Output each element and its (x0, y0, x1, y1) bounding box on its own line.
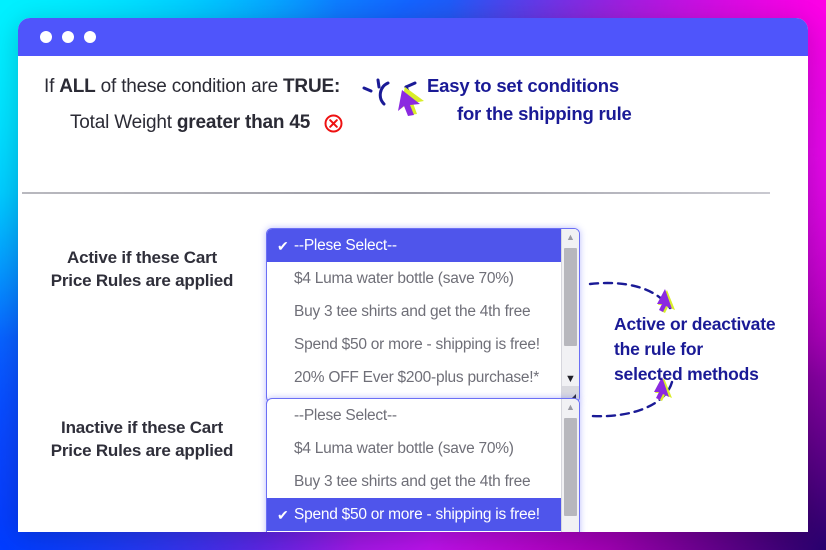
condition-block: If ALL of these condition are TRUE: Tota… (18, 56, 808, 134)
condition-rule-label: Total Weight (70, 112, 177, 133)
window-dot-minimize[interactable] (62, 31, 74, 43)
inactive-scroll-track[interactable] (562, 414, 579, 532)
active-rules-label: Active if these Cart Price Rules are app… (18, 228, 266, 293)
delete-circle-icon[interactable] (324, 114, 343, 133)
active-option-4[interactable]: ✔20% OFF Ever $200-plus purchase!* (267, 361, 561, 394)
active-options-list[interactable]: ✔--Plese Select--✔$4 Luma water bottle (… (267, 229, 561, 402)
inactive-rules-label-line2: Price Rules are applied (18, 439, 266, 462)
active-option-label: 20% OFF Ever $200-plus purchase!* (294, 369, 539, 387)
active-option-1[interactable]: ✔$4 Luma water bottle (save 70%) (267, 262, 561, 295)
annotation-top: Easy to set conditions for the shipping … (427, 72, 632, 128)
condition-true-word: TRUE: (283, 76, 340, 97)
active-option-3[interactable]: ✔Spend $50 or more - shipping is free! (267, 328, 561, 361)
annotation-top-line1: Easy to set conditions (427, 72, 632, 100)
annotation-right-line2: the rule for (614, 337, 775, 362)
window-dot-close[interactable] (40, 31, 52, 43)
inactive-listbox-scrollbar[interactable]: ▲ ▼ (561, 399, 579, 532)
condition-all-word: ALL (59, 76, 95, 97)
window-content: If ALL of these condition are TRUE: Tota… (18, 56, 808, 532)
condition-prefix: If (44, 76, 59, 97)
condition-rule-operator[interactable]: greater than 45 (177, 112, 310, 133)
active-option-2[interactable]: ✔Buy 3 tee shirts and get the 4th free (267, 295, 561, 328)
condition-middle: of these condition are (96, 76, 283, 97)
active-rules-label-line1: Active if these Cart (18, 246, 266, 269)
inactive-option-0[interactable]: ✔--Plese Select-- (267, 399, 561, 432)
annotation-top-line2: for the shipping rule (427, 100, 632, 128)
inactive-option-2[interactable]: ✔Buy 3 tee shirts and get the 4th free (267, 465, 561, 498)
inactive-option-label: $4 Luma water bottle (save 70%) (294, 440, 514, 458)
checkmark-icon: ✔ (277, 508, 294, 522)
inactive-option-1[interactable]: ✔$4 Luma water bottle (save 70%) (267, 432, 561, 465)
annotation-right-line1: Active or deactivate (614, 312, 775, 337)
condition-rule-text: Total Weight greater than 45 (70, 112, 310, 134)
active-scroll-track[interactable] (562, 244, 579, 371)
inactive-options-list[interactable]: ✔--Plese Select--✔$4 Luma water bottle (… (267, 399, 561, 532)
active-rules-label-line2: Price Rules are applied (18, 269, 266, 292)
annotation-right-line3: selected methods (614, 362, 775, 387)
browser-window: If ALL of these condition are TRUE: Tota… (18, 18, 808, 532)
active-option-0[interactable]: ✔--Plese Select-- (267, 229, 561, 262)
inactive-option-3[interactable]: ✔Spend $50 or more - shipping is free! (267, 498, 561, 531)
window-titlebar (18, 18, 808, 56)
active-scroll-thumb[interactable] (564, 248, 577, 346)
active-option-label: --Plese Select-- (294, 237, 397, 255)
active-option-label: Spend $50 or more - shipping is free! (294, 336, 540, 354)
inactive-cart-price-rules-listbox[interactable]: ✔--Plese Select--✔$4 Luma water bottle (… (266, 398, 580, 532)
window-dot-maximize[interactable] (84, 31, 96, 43)
annotation-right: Active or deactivate the rule for select… (614, 312, 775, 387)
inactive-scroll-thumb[interactable] (564, 418, 577, 516)
scroll-down-arrow-icon[interactable]: ▼ (562, 371, 579, 386)
section-divider (22, 192, 770, 194)
inactive-option-label: Spend $50 or more - shipping is free! (294, 506, 540, 524)
checkmark-icon: ✔ (277, 239, 294, 253)
active-listbox-scrollbar[interactable]: ▲ ▼ (561, 229, 579, 402)
active-rules-row: Active if these Cart Price Rules are app… (18, 228, 580, 403)
scroll-up-arrow-icon[interactable]: ▲ (562, 229, 579, 244)
scroll-up-arrow-icon[interactable]: ▲ (562, 399, 579, 414)
inactive-option-4[interactable]: ✔20% OFF Ever $200-plus purchase!* (267, 531, 561, 532)
gradient-background: If ALL of these condition are TRUE: Tota… (0, 0, 826, 550)
inactive-rules-row: Inactive if these Cart Price Rules are a… (18, 398, 580, 532)
inactive-option-label: --Plese Select-- (294, 407, 397, 425)
condition-heading: If ALL of these condition are TRUE: (44, 76, 808, 98)
active-cart-price-rules-listbox[interactable]: ✔--Plese Select--✔$4 Luma water bottle (… (266, 228, 580, 403)
inactive-rules-label-line1: Inactive if these Cart (18, 416, 266, 439)
inactive-rules-label: Inactive if these Cart Price Rules are a… (18, 398, 266, 463)
active-option-label: Buy 3 tee shirts and get the 4th free (294, 303, 530, 321)
active-option-label: $4 Luma water bottle (save 70%) (294, 270, 514, 288)
inactive-option-label: Buy 3 tee shirts and get the 4th free (294, 473, 530, 491)
